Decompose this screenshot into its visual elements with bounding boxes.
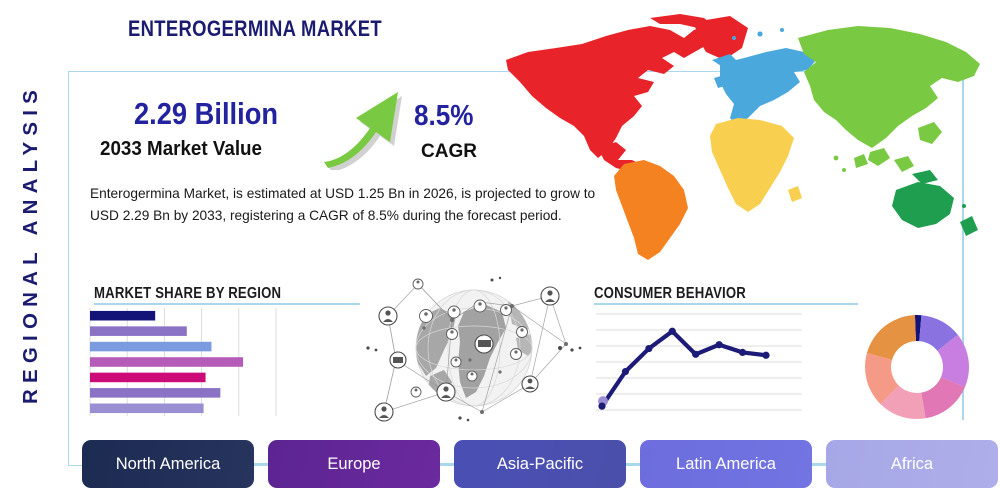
bar-chart-bar [90, 342, 211, 352]
market-share-heading-rule [94, 303, 360, 305]
growth-arrow-up-right-icon [318, 88, 408, 170]
line-chart-point [716, 341, 723, 348]
bar-chart-bar [90, 311, 155, 321]
page-title: ENTEROGERMINA MARKET [128, 16, 382, 42]
line-chart-point [739, 349, 746, 356]
region-tab-label: Latin America [676, 455, 776, 474]
market-share-bar-chart [88, 308, 288, 416]
line-chart-point [669, 328, 676, 335]
market-value-figure: 2.29 Billion [134, 96, 278, 132]
cagr-figure: 8.5% [414, 100, 473, 133]
region-tab-label: Asia-Pacific [497, 455, 583, 474]
line-chart-point [645, 345, 652, 352]
global-network-people-icon [360, 272, 588, 424]
tab-connector [626, 463, 640, 465]
tab-connector [812, 463, 826, 465]
region-tab-europe[interactable]: Europe [268, 440, 440, 488]
line-chart-point [598, 403, 605, 410]
market-description: Enterogermina Market, is estimated at US… [90, 183, 600, 226]
market-share-heading: MARKET SHARE BY REGION [94, 285, 281, 303]
bar-chart-bar [90, 357, 243, 367]
region-tab-north-america[interactable]: North America [82, 440, 254, 488]
bar-chart-bar [90, 404, 204, 414]
region-tab-latin-america[interactable]: Latin America [640, 440, 812, 488]
consumer-behavior-line-chart [596, 308, 802, 418]
region-tab-label: Europe [327, 455, 380, 474]
consumer-behavior-heading: CONSUMER BEHAVIOR [594, 285, 746, 303]
tab-connector [440, 463, 454, 465]
consumer-behavior-heading-rule [594, 303, 858, 305]
region-tab-label: North America [116, 455, 221, 474]
cagr-caption: CAGR [421, 141, 477, 163]
infographic-root: REGIONAL ANALYSIS ENTEROGERMINA MARKET [0, 0, 1000, 500]
bar-chart-bar [90, 326, 187, 336]
line-chart-point [762, 352, 769, 359]
vertical-section-label-text: REGIONAL ANALYSIS [19, 84, 43, 404]
vertical-section-label: REGIONAL ANALYSIS [0, 58, 62, 430]
donut-segment [867, 315, 916, 360]
regional-distribution-donut-chart [852, 312, 982, 422]
bar-chart-bar [90, 373, 206, 383]
bar-chart-bar [90, 388, 220, 398]
line-chart-point [622, 368, 629, 375]
region-tab-africa[interactable]: Africa [826, 440, 998, 488]
market-value-caption: 2033 Market Value [100, 138, 262, 161]
region-tab-asia-pacific[interactable]: Asia-Pacific [454, 440, 626, 488]
line-chart-point [692, 351, 699, 358]
region-tab-label: Africa [891, 455, 933, 474]
world-map-icon [498, 8, 998, 270]
tab-connector [254, 463, 268, 465]
